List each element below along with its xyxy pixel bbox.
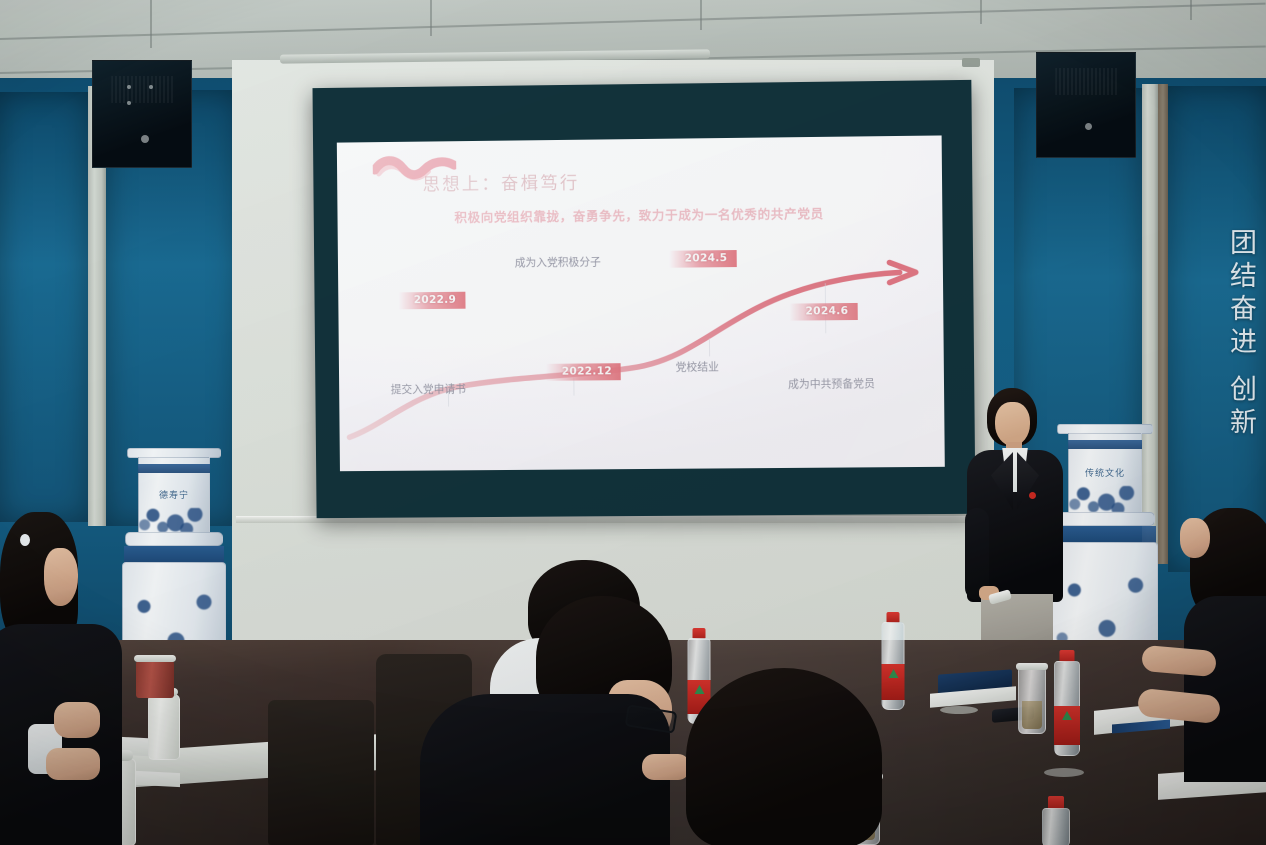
- vase-band: [1068, 440, 1142, 449]
- presenter: [955, 388, 1075, 660]
- ceiling-grid-line: [430, 0, 432, 36]
- bottle-label: [1054, 706, 1080, 745]
- attendee-left: [0, 512, 152, 845]
- vase-inscription: 德寿宁: [159, 488, 189, 501]
- timeline-date-chip: 2024.5: [669, 250, 737, 268]
- attendee-foreground: [686, 668, 894, 845]
- attendee-torso: [1184, 596, 1266, 782]
- timeline-date-chip: 2024.6: [789, 303, 857, 321]
- speaker-driver-dot: [149, 85, 153, 89]
- speaker-driver-dot: [127, 85, 131, 89]
- timeline-label: 成为入党积极分子: [513, 255, 603, 269]
- ceiling-grid-line: [980, 0, 982, 24]
- attendee-hand: [46, 748, 100, 780]
- coaster: [940, 706, 978, 714]
- attendee-hair: [686, 668, 882, 845]
- ceiling-grid-line: [700, 0, 702, 30]
- attendee-hand: [54, 702, 100, 738]
- thermos-body: [148, 694, 180, 760]
- speaker-driver-dot: [1085, 123, 1092, 130]
- ceiling-grid-line: [1190, 0, 1192, 20]
- attendee-center-front: [430, 596, 700, 845]
- vase-floral-pattern: [1069, 486, 1141, 512]
- tea-liquid: [1022, 701, 1042, 729]
- speaker-grille: [112, 76, 173, 104]
- presenter-face: [995, 402, 1030, 446]
- glass-tea-cup-1: [1018, 668, 1046, 734]
- thermos-flask-1: [148, 694, 180, 760]
- cup-lid: [1016, 663, 1048, 670]
- party-emblem-pin: [1029, 492, 1036, 499]
- timeline-label: 党校结业: [676, 360, 719, 374]
- meeting-room-photo: 团结奋进 创新 思想上：奋楫笃行 积: [0, 0, 1266, 845]
- attendee-hand: [642, 754, 690, 780]
- wall-speaker-right: [1036, 52, 1136, 158]
- vase-inscription: 传统文化: [1085, 466, 1125, 479]
- bottle-body: [1042, 808, 1070, 845]
- timeline-curve: [338, 224, 945, 469]
- wall-panel-left-1: [0, 92, 88, 522]
- projection-screen-surface: 思想上：奋楫笃行 积极向党组织靠拢，奋勇争先，致力于成为一名优秀的共产党员: [337, 135, 945, 471]
- ceiling-grid-line: [150, 0, 152, 48]
- water-bottle-3: [1052, 650, 1082, 756]
- slide-title: 思想上：奋楫笃行: [422, 170, 579, 197]
- speaker-grille: [1056, 68, 1117, 95]
- projection-screen: 思想上：奋楫笃行 积极向党组织靠拢，奋勇争先，致力于成为一名优秀的共产党员: [313, 80, 976, 518]
- attendee-face: [1180, 518, 1210, 558]
- wall-calligraphy: 团结奋进 创新: [1218, 228, 1262, 441]
- speaker-driver-dot: [127, 101, 131, 105]
- presentation-slide: 思想上：奋楫笃行 积极向党组织靠拢，奋勇争先，致力于成为一名优秀的共产党员: [337, 135, 945, 471]
- coaster: [1044, 768, 1084, 777]
- water-bottle-4: [1040, 796, 1072, 845]
- timeline-label: 提交入党申请书: [391, 383, 466, 397]
- wall-speaker-left: [92, 60, 192, 168]
- chair-left: [268, 700, 374, 845]
- attendee-face: [44, 548, 78, 606]
- attendee-right-upper: [1178, 498, 1266, 618]
- wall-pillar-trim: [1158, 84, 1168, 564]
- slide-subtitle: 积极向党组织靠拢，奋勇争先，致力于成为一名优秀的共产党员: [454, 203, 823, 226]
- timeline-label: 成为中共预备党员: [788, 377, 875, 391]
- vase-band: [138, 464, 210, 473]
- timeline-date-chip: 2022.12: [546, 363, 621, 381]
- hair-clip: [20, 534, 30, 546]
- timeline-date-chip: 2022.9: [398, 292, 465, 310]
- ceiling-mount-bracket: [962, 58, 980, 67]
- speaker-driver-dot: [141, 135, 149, 143]
